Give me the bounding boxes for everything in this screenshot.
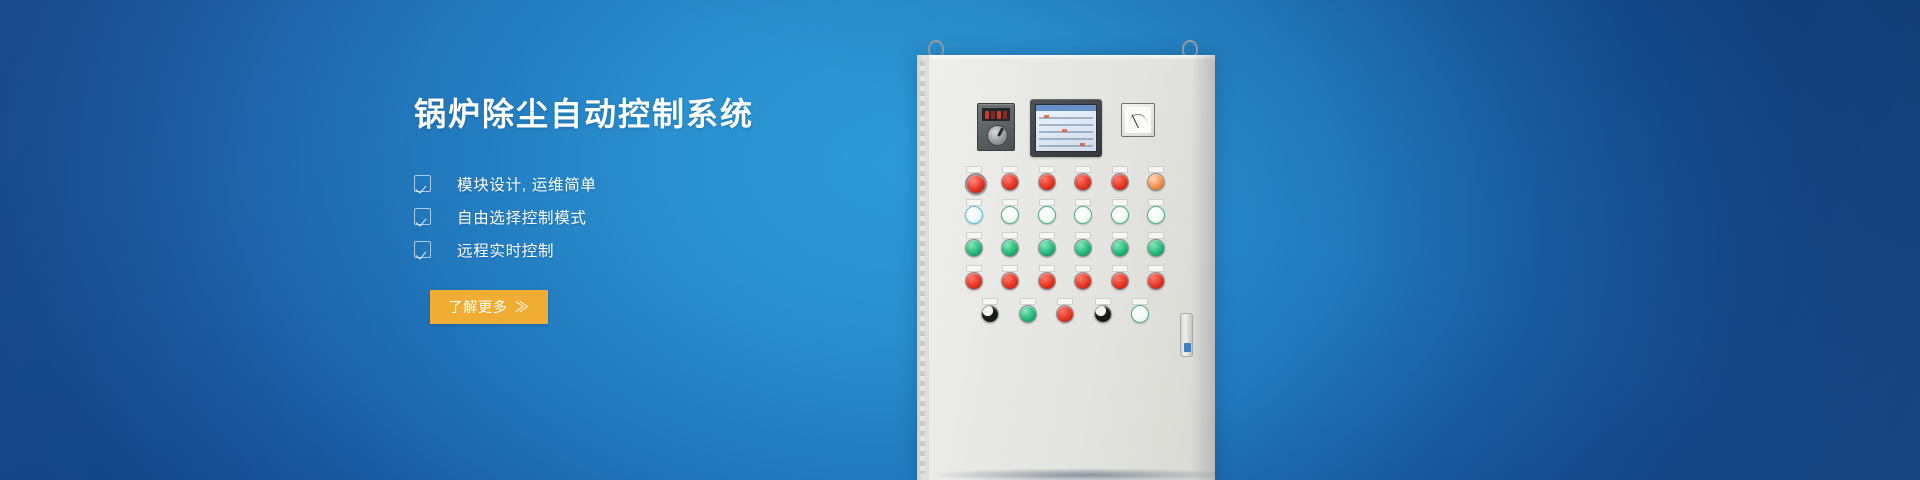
indicator-lamp[interactable] <box>1001 239 1019 257</box>
selector-switch[interactable] <box>1094 305 1112 323</box>
timer-digit <box>991 111 995 119</box>
learn-more-label: 了解更多 <box>448 297 507 317</box>
hmi-alarm-tick <box>1044 115 1049 118</box>
indicator-lamp[interactable] <box>965 239 983 257</box>
feature-label: 模块设计, 运维简单 <box>457 173 597 195</box>
indicator-lamp[interactable] <box>1001 173 1019 191</box>
cabinet-shadow <box>927 468 1239 480</box>
selector-switch[interactable] <box>981 305 999 323</box>
indicator-lamp[interactable] <box>1001 272 1019 290</box>
indicator-lamp[interactable] <box>1074 272 1092 290</box>
cabinet-body <box>917 55 1215 480</box>
page-title: 锅炉除尘自动控制系统 <box>414 95 884 133</box>
hmi-screen <box>1035 104 1097 152</box>
indicator-lamp[interactable] <box>1074 206 1092 224</box>
list-item: 模块设计, 运维简单 <box>414 167 884 200</box>
timer-readout <box>982 108 1010 121</box>
hmi-alarm-tick <box>1062 129 1067 132</box>
indicator-lamp[interactable] <box>1038 206 1056 224</box>
lamp-row <box>965 272 1165 290</box>
indicator-lamp[interactable] <box>965 206 983 224</box>
indicator-lamp[interactable] <box>1111 239 1129 257</box>
timer-selector-dial <box>987 125 1008 146</box>
hmi-row <box>1039 138 1093 140</box>
indicator-lamp[interactable] <box>1147 239 1165 257</box>
cabinet-hinge-strip <box>917 55 929 480</box>
indicator-lamp[interactable] <box>1111 272 1129 290</box>
hmi-row <box>1039 124 1093 126</box>
pushbutton-grid <box>965 173 1165 338</box>
indicator-lamp[interactable] <box>1111 173 1129 191</box>
lamp-row <box>965 239 1165 257</box>
indicator-lamp[interactable] <box>1019 305 1037 323</box>
meter-needle <box>1131 114 1139 128</box>
indicator-lamp[interactable] <box>1131 305 1149 323</box>
indicator-lamp[interactable] <box>1038 239 1056 257</box>
feature-label: 自由选择控制模式 <box>457 206 587 228</box>
hmi-alarm-tick <box>1080 143 1085 146</box>
control-cabinet-photo <box>900 0 1300 480</box>
meter-face <box>1125 107 1151 133</box>
analog-panel-meter <box>1121 103 1155 137</box>
hmi-titlebar <box>1036 105 1096 111</box>
indicator-lamp[interactable] <box>1038 272 1056 290</box>
hero-banner: 锅炉除尘自动控制系统 模块设计, 运维简单 自由选择控制模式 远程实时控制 了解… <box>0 0 1920 480</box>
list-item: 远程实时控制 <box>414 233 884 266</box>
lamp-row <box>965 173 1165 191</box>
indicator-lamp[interactable] <box>965 272 983 290</box>
digital-timer-controller <box>977 103 1015 151</box>
indicator-lamp[interactable] <box>1074 173 1092 191</box>
indicator-lamp[interactable] <box>1147 272 1165 290</box>
feature-label: 远程实时控制 <box>457 239 554 261</box>
lamp-row <box>965 206 1165 224</box>
lamp-row <box>965 305 1165 323</box>
learn-more-button[interactable]: 了解更多 ≫ <box>430 290 548 324</box>
indicator-lamp[interactable] <box>965 173 983 191</box>
indicator-lamp[interactable] <box>1056 305 1074 323</box>
indicator-lamp[interactable] <box>1038 173 1056 191</box>
cta-container: 了解更多 ≫ <box>430 290 884 324</box>
hmi-touchscreen-panel <box>1030 99 1102 157</box>
feature-list: 模块设计, 运维简单 自由选择控制模式 远程实时控制 <box>414 167 884 266</box>
indicator-lamp[interactable] <box>1147 173 1165 191</box>
list-item: 自由选择控制模式 <box>414 200 884 233</box>
timer-digit <box>997 111 1001 119</box>
checkbox-checked-icon <box>414 208 431 225</box>
timer-digit <box>1003 111 1007 119</box>
banner-copy: 锅炉除尘自动控制系统 模块设计, 运维简单 自由选择控制模式 远程实时控制 了解… <box>414 95 884 324</box>
door-handle-lock[interactable] <box>1180 313 1193 357</box>
indicator-lamp[interactable] <box>1147 206 1165 224</box>
chevron-right-double-icon: ≫ <box>515 300 530 314</box>
checkbox-checked-icon <box>414 241 431 258</box>
timer-digit <box>985 111 989 119</box>
checkbox-checked-icon <box>414 175 431 192</box>
indicator-lamp[interactable] <box>1001 206 1019 224</box>
indicator-lamp[interactable] <box>1074 239 1092 257</box>
indicator-lamp[interactable] <box>1111 206 1129 224</box>
